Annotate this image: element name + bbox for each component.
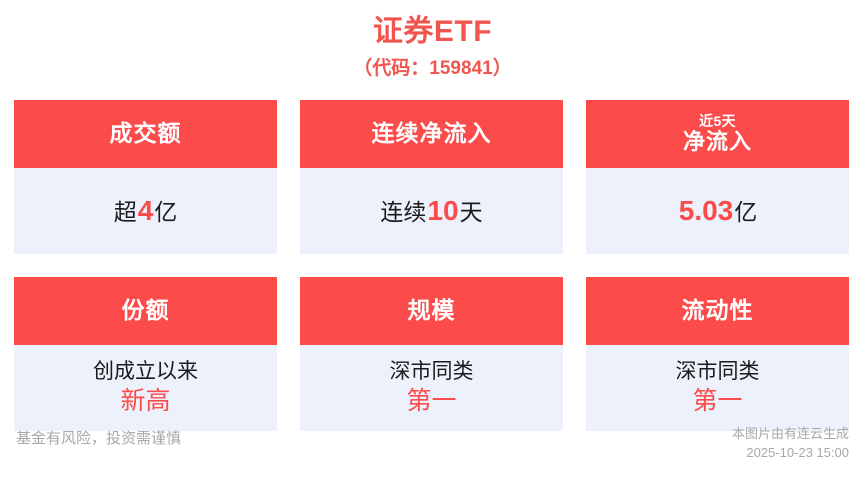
metric-card-turnover: 成交额 超 4 亿 xyxy=(14,100,277,254)
metric-card-body: 深市同类 第一 xyxy=(586,345,849,431)
metric-value-bottom: 新高 xyxy=(93,386,198,417)
metric-value-suffix: 亿 xyxy=(154,199,177,226)
metric-card-scale: 规模 深市同类 第一 xyxy=(300,277,563,431)
metric-card-header: 规模 xyxy=(300,277,563,345)
metric-value-bottom: 第一 xyxy=(390,386,474,417)
page-header: 证券ETF （代码：159841） xyxy=(0,0,865,84)
metric-card-header: 连续净流入 xyxy=(300,100,563,168)
metric-value: 深市同类 第一 xyxy=(676,359,760,418)
generation-credit: 本图片由有连云生成 2025-10-23 15:00 xyxy=(732,424,849,462)
metric-card-title: 净流入 xyxy=(683,130,752,155)
metric-value: 深市同类 第一 xyxy=(390,359,474,418)
metric-card-kicker: 近5天 xyxy=(699,114,736,130)
metric-value-top: 深市同类 xyxy=(676,359,760,385)
metric-card-title: 份额 xyxy=(122,298,170,324)
metric-card-header: 近5天 净流入 xyxy=(586,100,849,168)
metric-card-title: 成交额 xyxy=(110,121,182,147)
metric-card-header: 成交额 xyxy=(14,100,277,168)
metric-card-liquidity: 流动性 深市同类 第一 xyxy=(586,277,849,431)
metric-value: 连续 10 天 xyxy=(380,194,482,227)
metric-card-shares: 份额 创成立以来 新高 xyxy=(14,277,277,431)
metric-card-consecutive-net-inflow: 连续净流入 连续 10 天 xyxy=(300,100,563,254)
metric-card-grid: 成交额 超 4 亿 连续净流入 连续 10 天 xyxy=(14,100,851,431)
credit-timestamp: 2025-10-23 15:00 xyxy=(732,443,849,462)
metric-value-suffix: 天 xyxy=(460,199,483,226)
metric-value-bottom: 第一 xyxy=(676,386,760,417)
metric-card-body: 5.03 亿 xyxy=(586,168,849,254)
metric-value: 5.03 亿 xyxy=(678,194,758,227)
metric-value-highlight: 5.03 xyxy=(678,194,735,227)
metric-value-prefix: 超 xyxy=(114,199,137,226)
risk-disclaimer: 基金有风险，投资需谨慎 xyxy=(16,424,181,450)
metric-card-body: 创成立以来 新高 xyxy=(14,345,277,431)
metric-card-title: 规模 xyxy=(408,298,456,324)
metric-card-5day-net-inflow: 近5天 净流入 5.03 亿 xyxy=(586,100,849,254)
metric-value-prefix: 连续 xyxy=(380,199,426,226)
metric-value-highlight: 10 xyxy=(426,194,459,227)
page-footer: 基金有风险，投资需谨慎 本图片由有连云生成 2025-10-23 15:00 xyxy=(0,424,865,470)
metric-card-body: 深市同类 第一 xyxy=(300,345,563,431)
etf-info-card-page: 证券ETF （代码：159841） 成交额 超 4 亿 连续净流入 xyxy=(0,0,865,478)
metric-card-header: 份额 xyxy=(14,277,277,345)
page-title: 证券ETF xyxy=(0,12,865,52)
metric-value: 创成立以来 新高 xyxy=(93,359,198,418)
metric-value: 超 4 亿 xyxy=(114,194,178,227)
metric-card-body: 超 4 亿 xyxy=(14,168,277,254)
metric-card-title: 流动性 xyxy=(682,298,754,324)
metric-card-header: 流动性 xyxy=(586,277,849,345)
metric-value-top: 深市同类 xyxy=(390,359,474,385)
metric-value-top: 创成立以来 xyxy=(93,359,198,385)
metric-value-highlight: 4 xyxy=(137,194,155,227)
metric-value-suffix: 亿 xyxy=(734,199,757,226)
metric-card-title: 连续净流入 xyxy=(372,121,492,147)
credit-source: 本图片由有连云生成 xyxy=(732,424,849,443)
metric-card-body: 连续 10 天 xyxy=(300,168,563,254)
fund-code-subtitle: （代码：159841） xyxy=(0,54,865,84)
